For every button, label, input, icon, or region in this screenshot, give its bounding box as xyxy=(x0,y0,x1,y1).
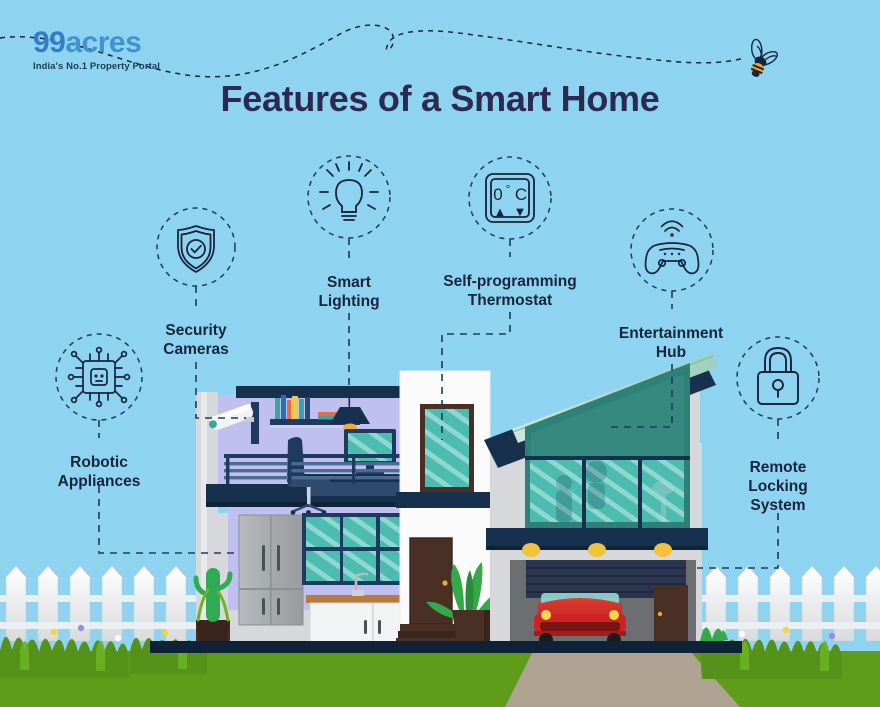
thermostat-unit: C xyxy=(515,185,527,204)
feature-label-line: Security xyxy=(116,322,276,341)
feature-label-smart-lighting: Smart Lighting xyxy=(269,274,429,312)
thermostat-value: 0 xyxy=(493,185,502,204)
feature-label-entertainment-hub: Entertainment Hub xyxy=(581,325,761,363)
feature-label-line: System xyxy=(698,497,858,516)
feature-label-robotic-appliances: Robotic Appliances xyxy=(19,454,179,492)
thermostat-degree: ° xyxy=(506,182,511,196)
feature-label-line: Hub xyxy=(581,344,761,363)
feature-label-line: Self-programming xyxy=(410,273,610,292)
smart-house-illustration xyxy=(150,353,742,653)
logo-nine: 99 xyxy=(33,26,65,59)
thermostat-down-arrow[interactable]: ▼ xyxy=(516,207,524,218)
feature-label-line: Lighting xyxy=(269,293,429,312)
feature-label-line: Remote xyxy=(698,459,858,478)
feature-label-thermostat: Self-programming Thermostat xyxy=(410,273,610,311)
feature-label-line: Entertainment xyxy=(581,325,761,344)
glass-door-upper xyxy=(420,404,474,492)
feature-label-line: Locking xyxy=(698,478,858,497)
feature-label-remote-locking: Remote Locking System xyxy=(698,459,858,516)
feature-label-line: Robotic xyxy=(19,454,179,473)
page-title: Features of a Smart Home xyxy=(0,78,880,120)
infographic-canvas: 0 ° C ▲ ▼ xyxy=(0,0,880,707)
center-awning xyxy=(396,492,494,508)
feature-label-line: Cameras xyxy=(116,341,276,360)
feature-label-line: Smart xyxy=(269,274,429,293)
logo-acres: acres xyxy=(65,26,141,59)
feature-label-security-cameras: Security Cameras xyxy=(116,322,276,360)
feature-label-line: Appliances xyxy=(19,473,179,492)
brand-logo[interactable]: 99acres India's No.1 Property Portal xyxy=(33,28,213,72)
house-foundation xyxy=(150,641,742,653)
thermostat-up-arrow[interactable]: ▲ xyxy=(496,207,504,218)
refrigerator[interactable] xyxy=(239,515,303,625)
feature-label-line: Thermostat xyxy=(410,292,610,311)
logo-wordmark: 99acres xyxy=(33,28,213,58)
logo-tagline: India's No.1 Property Portal xyxy=(33,61,213,72)
